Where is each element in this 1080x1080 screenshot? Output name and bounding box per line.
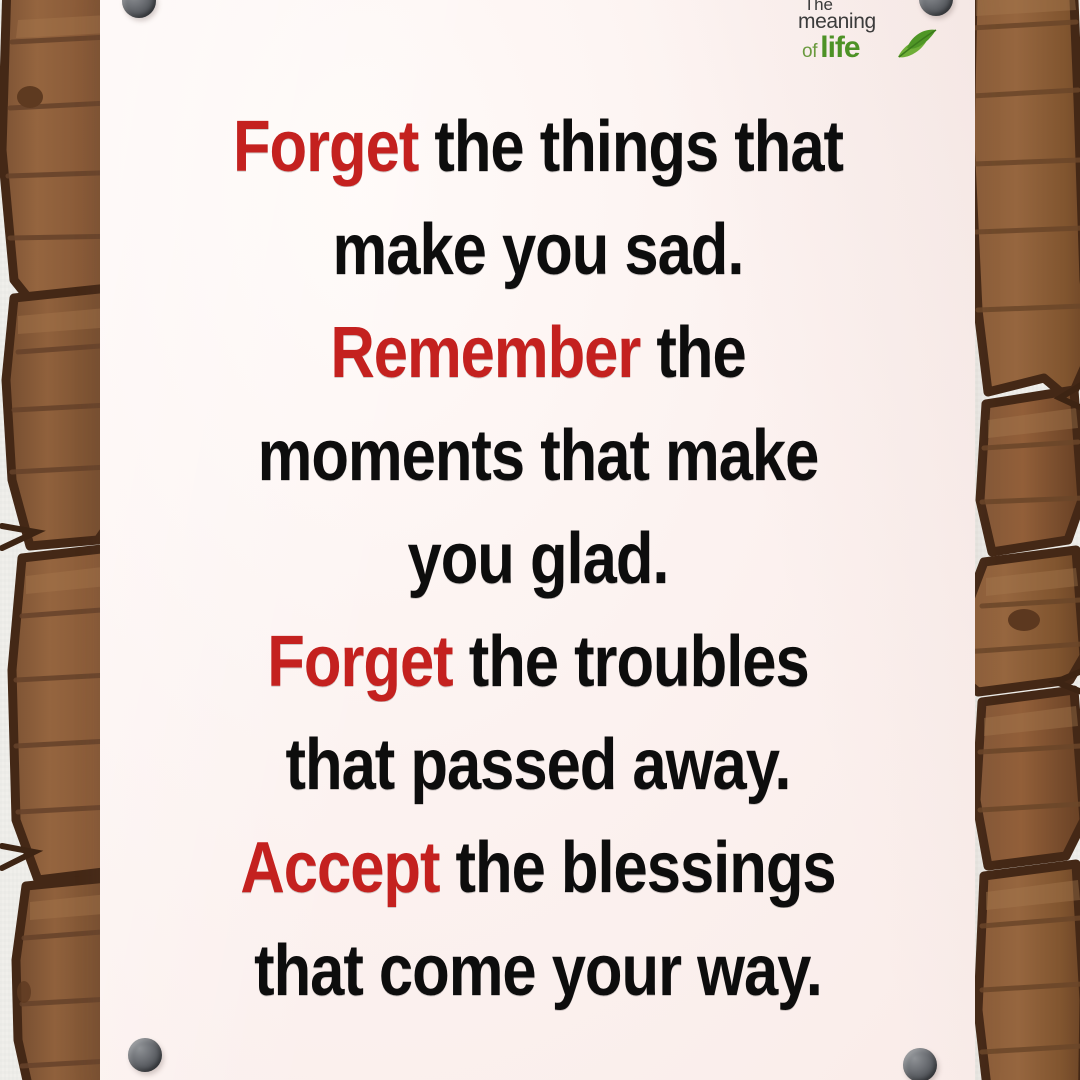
quote-line: you glad. [174,508,902,611]
leaf-icon [893,26,939,64]
quote-poster: The meaning of life Forget the things th… [0,0,1080,1080]
quote-line: Remember the [174,302,902,405]
pin-bottom-left [128,1038,162,1072]
quote-line-rest: the troubles [453,622,809,702]
highlight-word: Forget [267,622,452,702]
quote-line: moments that make [174,405,902,508]
logo-word-of: of [802,42,817,61]
quote-line-rest: the things that [418,107,843,187]
quote-line: make you sad. [174,199,902,302]
highlight-word: Remember [330,313,640,393]
quote-line: Forget the troubles [174,611,902,714]
quote-text-block: Forget the things that make you sad. Rem… [112,96,964,1023]
highlight-word: Forget [233,107,418,187]
quote-line: Accept the blessings [174,817,902,920]
quote-line: Forget the things that [174,96,902,199]
quote-line: that passed away. [174,714,902,817]
highlight-word: Accept [240,828,439,908]
quote-line: that come your way. [174,920,902,1023]
leaf-icon-svg [893,26,939,64]
quote-line-rest: you glad. [408,519,669,599]
pin-bottom-right [903,1048,937,1080]
brand-logo[interactable]: The meaning of life [798,0,938,63]
quote-line-rest: make you sad. [333,210,744,290]
quote-line-rest: that come your way. [254,931,822,1011]
quote-line-rest: the [640,313,745,393]
quote-line-rest: the blessings [439,828,835,908]
quote-line-rest: moments that make [258,416,819,496]
logo-word-life: life [820,33,859,63]
quote-line-rest: that passed away. [286,725,791,805]
